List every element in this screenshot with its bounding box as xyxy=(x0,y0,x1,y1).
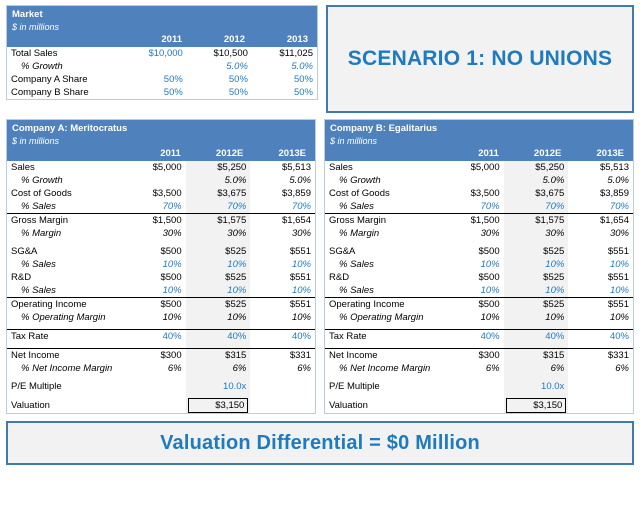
row-value-cell[interactable]: 30% xyxy=(186,227,251,240)
row-value-cell[interactable]: 30% xyxy=(250,227,315,240)
row-value-cell[interactable]: $500 xyxy=(442,298,504,312)
row-value-cell[interactable]: 10% xyxy=(250,258,315,271)
row-label: R&D xyxy=(7,271,124,284)
market-year-row: 2011 2012 2013 xyxy=(12,33,312,47)
row-label: Cost of Goods xyxy=(325,187,442,200)
row-value-cell[interactable]: 50% xyxy=(125,86,187,99)
company-a-row: % Sales70%70%70% xyxy=(7,200,315,214)
company-a-row: % Sales10%10%10% xyxy=(7,284,315,298)
row-label: % Sales xyxy=(7,258,124,271)
row-value-cell[interactable]: 10% xyxy=(186,284,251,298)
company-b-title: Company B: Egalitarius xyxy=(330,123,628,135)
row-label: P/E Multiple xyxy=(325,380,442,393)
row-value-cell[interactable]: $525 xyxy=(504,245,569,258)
scenario-title: SCENARIO 1: NO UNIONS xyxy=(348,47,612,71)
row-value-cell[interactable]: 40% xyxy=(250,330,315,344)
row-label: P/E Multiple xyxy=(7,380,124,393)
row-value-cell[interactable]: 10% xyxy=(124,284,186,298)
row-value-cell[interactable]: 70% xyxy=(504,200,569,214)
row-value-cell[interactable]: $1,500 xyxy=(442,214,504,228)
row-value-cell[interactable]: 6% xyxy=(124,362,186,375)
row-value-cell[interactable]: $500 xyxy=(124,245,186,258)
market-rows: Total Sales$10,000$10,500$11,025% Growth… xyxy=(7,47,317,99)
row-label: % Growth xyxy=(325,174,442,187)
company-a-row: % Sales10%10%10% xyxy=(7,258,315,271)
row-value-cell[interactable]: 30% xyxy=(504,227,569,240)
company-a-row: R&D$500$525$551 xyxy=(7,271,315,284)
market-year-0: 2011 xyxy=(126,33,186,47)
row-label: Tax Rate xyxy=(325,330,442,344)
company-a-rows: Sales$5,000$5,250$5,513% Growth5.0%5.0%C… xyxy=(7,161,315,413)
row-value-cell[interactable]: 70% xyxy=(442,200,504,214)
company-a-header: Company A: Meritocratus $ in millions 20… xyxy=(7,120,315,161)
row-value-cell[interactable]: 10% xyxy=(568,311,633,324)
row-value-cell[interactable]: 5.0% xyxy=(252,60,317,73)
row-label: Sales xyxy=(7,161,124,174)
row-label: Cost of Goods xyxy=(7,187,124,200)
row-value-cell[interactable]: 50% xyxy=(187,86,252,99)
row-value-cell[interactable]: 40% xyxy=(186,330,251,344)
row-label: % Net Income Margin xyxy=(325,362,442,375)
company-a-row: % Net Income Margin6%6%6% xyxy=(7,362,315,375)
row-value-cell[interactable] xyxy=(125,60,187,73)
row-value-cell[interactable]: 5.0% xyxy=(568,174,633,187)
row-value-cell[interactable]: 40% xyxy=(568,330,633,344)
company-a-row: Tax Rate40%40%40% xyxy=(7,330,315,344)
valuation-differential-text: Valuation Differential = $0 Million xyxy=(160,432,480,455)
row-value-cell[interactable]: $5,513 xyxy=(568,161,633,174)
row-label: % Growth xyxy=(7,60,125,73)
row-value-cell[interactable]: $1,575 xyxy=(504,214,569,228)
row-label: Valuation xyxy=(7,398,124,413)
row-label: Valuation xyxy=(325,398,442,413)
row-value-cell[interactable]: 40% xyxy=(504,330,569,344)
row-value-cell[interactable]: 5.0% xyxy=(186,174,251,187)
row-value-cell[interactable]: 70% xyxy=(124,200,186,214)
row-value-cell[interactable]: 10% xyxy=(442,284,504,298)
row-value-cell[interactable]: 10% xyxy=(442,311,504,324)
row-label: Company A Share xyxy=(7,73,125,86)
company-b-row: Sales$5,000$5,250$5,513 xyxy=(325,161,633,174)
row-value-cell[interactable]: 30% xyxy=(568,227,633,240)
spreadsheet-page: Market $ in millions 2011 2012 2013 xyxy=(0,0,640,505)
company-b-year-row: 2011 2012E 2013E xyxy=(330,147,628,161)
company-a-year-2: 2013E xyxy=(247,147,310,161)
company-a-label-col-header xyxy=(12,147,125,161)
row-value-cell[interactable]: 10% xyxy=(504,284,569,298)
row-value-cell[interactable]: $5,250 xyxy=(186,161,251,174)
company-b-row: Operating Income$500$525$551 xyxy=(325,298,633,312)
row-value-cell[interactable]: $551 xyxy=(568,245,633,258)
row-value-cell[interactable]: 10.0x xyxy=(186,380,251,393)
row-value-cell[interactable]: 6% xyxy=(442,362,504,375)
company-b-block: Company B: Egalitarius $ in millions 201… xyxy=(324,119,634,414)
row-value-cell[interactable]: $551 xyxy=(250,245,315,258)
row-value-cell[interactable]: $5,000 xyxy=(124,161,186,174)
row-value-cell[interactable]: $500 xyxy=(124,271,186,284)
company-a-row: % Operating Margin10%10%10% xyxy=(7,311,315,324)
row-value-cell[interactable]: 10% xyxy=(442,258,504,271)
row-label: Operating Income xyxy=(7,298,124,312)
company-a-block: Company A: Meritocratus $ in millions 20… xyxy=(6,119,316,414)
row-value-cell[interactable]: 70% xyxy=(568,200,633,214)
company-a-year-0: 2011 xyxy=(125,147,185,161)
company-b-row: Valuation$3,150 xyxy=(325,398,633,413)
row-value-cell[interactable]: 30% xyxy=(442,227,504,240)
row-label: Total Sales xyxy=(7,47,125,60)
row-value-cell[interactable]: 70% xyxy=(186,200,251,214)
row-value-cell[interactable]: 10% xyxy=(250,311,315,324)
row-label: % Sales xyxy=(7,284,124,298)
company-b-row: % Margin30%30%30% xyxy=(325,227,633,240)
company-a-row: % Margin30%30%30% xyxy=(7,227,315,240)
row-label: Gross Margin xyxy=(7,214,124,228)
company-b-row: % Sales70%70%70% xyxy=(325,200,633,214)
row-value-cell[interactable]: $1,654 xyxy=(250,214,315,228)
row-value-cell[interactable]: $3,859 xyxy=(568,187,633,200)
market-title: Market xyxy=(12,9,312,21)
market-row: Company B Share50%50%50% xyxy=(7,86,317,99)
row-value-cell[interactable]: 6% xyxy=(186,362,251,375)
row-value-cell[interactable]: 10% xyxy=(568,258,633,271)
row-value-cell[interactable]: $1,500 xyxy=(124,214,186,228)
row-value-cell[interactable]: $1,575 xyxy=(186,214,251,228)
company-b-row: % Net Income Margin6%6%6% xyxy=(325,362,633,375)
row-label: SG&A xyxy=(325,245,442,258)
row-value-cell[interactable] xyxy=(250,380,315,393)
row-value-cell[interactable]: $1,654 xyxy=(568,214,633,228)
row-value-cell[interactable]: $3,675 xyxy=(504,187,569,200)
company-b-row: % Operating Margin10%10%10% xyxy=(325,311,633,324)
row-value-cell[interactable]: 6% xyxy=(250,362,315,375)
row-value-cell[interactable]: 5.0% xyxy=(250,174,315,187)
market-body-table: Total Sales$10,000$10,500$11,025% Growth… xyxy=(7,47,317,99)
row-value-cell[interactable]: $551 xyxy=(250,271,315,284)
company-b-header: Company B: Egalitarius $ in millions 201… xyxy=(325,120,633,161)
row-value-cell[interactable] xyxy=(250,398,315,413)
row-value-cell[interactable]: $525 xyxy=(186,271,251,284)
row-value-cell[interactable]: $3,859 xyxy=(250,187,315,200)
row-value-cell[interactable]: 10% xyxy=(504,311,569,324)
company-b-row: Tax Rate40%40%40% xyxy=(325,330,633,344)
row-label: Tax Rate xyxy=(7,330,124,344)
company-b-row: Cost of Goods$3,500$3,675$3,859 xyxy=(325,187,633,200)
row-value-cell[interactable]: 10% xyxy=(568,284,633,298)
row-value-cell[interactable]: $3,150 xyxy=(186,398,251,413)
row-value-cell[interactable]: $5,250 xyxy=(504,161,569,174)
company-b-row: % Sales10%10%10% xyxy=(325,284,633,298)
row-value-cell[interactable]: $3,150 xyxy=(504,398,569,413)
row-value-cell[interactable]: 6% xyxy=(568,362,633,375)
row-value-cell[interactable]: 6% xyxy=(504,362,569,375)
company-b-row: SG&A$500$525$551 xyxy=(325,245,633,258)
row-value-cell[interactable]: 50% xyxy=(252,73,317,86)
market-label-col-header xyxy=(12,33,126,47)
row-label: % Sales xyxy=(325,258,442,271)
company-a-year-row: 2011 2012E 2013E xyxy=(12,147,310,161)
company-b-subtitle: $ in millions xyxy=(330,135,628,147)
market-table-block: Market $ in millions 2011 2012 2013 xyxy=(6,5,318,100)
row-value-cell[interactable]: $525 xyxy=(504,298,569,312)
row-value-cell[interactable]: $3,675 xyxy=(186,187,251,200)
company-a-body-table: Sales$5,000$5,250$5,513% Growth5.0%5.0%C… xyxy=(7,161,315,413)
valuation-differential-banner: Valuation Differential = $0 Million xyxy=(6,421,634,465)
row-label: SG&A xyxy=(7,245,124,258)
company-tables-row: Company A: Meritocratus $ in millions 20… xyxy=(6,119,634,414)
valuation-output-cell[interactable]: $3,150 xyxy=(506,398,567,413)
row-value-cell[interactable]: 40% xyxy=(442,330,504,344)
row-value-cell[interactable]: $5,000 xyxy=(442,161,504,174)
company-b-year-2: 2013E xyxy=(565,147,628,161)
company-a-row: Sales$5,000$5,250$5,513 xyxy=(7,161,315,174)
company-a-subtitle: $ in millions xyxy=(12,135,310,147)
row-value-cell[interactable]: 10% xyxy=(186,258,251,271)
company-a-row: Valuation$3,150 xyxy=(7,398,315,413)
row-value-cell[interactable]: 10% xyxy=(124,258,186,271)
row-value-cell[interactable]: $500 xyxy=(124,298,186,312)
row-value-cell[interactable] xyxy=(442,380,504,393)
row-label: Gross Margin xyxy=(325,214,442,228)
company-b-row: Net Income$300$315$331 xyxy=(325,349,633,363)
row-value-cell[interactable] xyxy=(442,398,504,413)
row-label: Operating Income xyxy=(325,298,442,312)
row-label: % Margin xyxy=(7,227,124,240)
row-value-cell[interactable]: $525 xyxy=(186,298,251,312)
row-value-cell[interactable]: 70% xyxy=(250,200,315,214)
row-value-cell[interactable]: 50% xyxy=(187,73,252,86)
company-b-year-0: 2011 xyxy=(443,147,503,161)
row-value-cell[interactable]: 10.0x xyxy=(504,380,569,393)
market-header: Market $ in millions 2011 2012 2013 xyxy=(7,6,317,47)
row-value-cell[interactable]: $551 xyxy=(568,271,633,284)
company-a-row: Cost of Goods$3,500$3,675$3,859 xyxy=(7,187,315,200)
row-value-cell[interactable]: $525 xyxy=(186,245,251,258)
company-b-year-1: 2012E xyxy=(503,147,566,161)
row-value-cell[interactable] xyxy=(568,398,633,413)
row-value-cell[interactable]: $300 xyxy=(442,349,504,363)
row-label: Company B Share xyxy=(7,86,125,99)
row-value-cell[interactable]: $3,500 xyxy=(124,187,186,200)
company-b-year-header-table: 2011 2012E 2013E xyxy=(330,147,628,161)
company-b-label-col-header xyxy=(330,147,443,161)
row-label: % Sales xyxy=(325,200,442,214)
company-b-body-table: Sales$5,000$5,250$5,513% Growth5.0%5.0%C… xyxy=(325,161,633,413)
row-label: Net Income xyxy=(325,349,442,363)
row-label: % Sales xyxy=(325,284,442,298)
company-b-row: % Sales10%10%10% xyxy=(325,258,633,271)
row-value-cell[interactable]: 40% xyxy=(124,330,186,344)
row-value-cell[interactable]: $331 xyxy=(568,349,633,363)
row-value-cell[interactable]: $500 xyxy=(442,271,504,284)
market-subtitle: $ in millions xyxy=(12,21,312,33)
row-value-cell[interactable]: $10,000 xyxy=(125,47,187,60)
company-a-row: P/E Multiple10.0x xyxy=(7,380,315,393)
market-row: % Growth5.0%5.0% xyxy=(7,60,317,73)
row-value-cell[interactable]: $3,500 xyxy=(442,187,504,200)
row-label: % Net Income Margin xyxy=(7,362,124,375)
row-value-cell[interactable] xyxy=(124,398,186,413)
row-value-cell[interactable]: $315 xyxy=(186,349,251,363)
company-a-row: % Growth5.0%5.0% xyxy=(7,174,315,187)
row-label: R&D xyxy=(325,271,442,284)
row-label: Net Income xyxy=(7,349,124,363)
row-value-cell[interactable]: 5.0% xyxy=(187,60,252,73)
row-value-cell[interactable]: $525 xyxy=(504,271,569,284)
row-value-cell[interactable]: 10% xyxy=(250,284,315,298)
market-year-1: 2012 xyxy=(186,33,249,47)
market-row: Company A Share50%50%50% xyxy=(7,73,317,86)
market-year-header-table: 2011 2012 2013 xyxy=(12,33,312,47)
row-label: % Growth xyxy=(7,174,124,187)
row-label: % Sales xyxy=(7,200,124,214)
company-b-row: % Growth5.0%5.0% xyxy=(325,174,633,187)
valuation-output-cell[interactable]: $3,150 xyxy=(188,398,249,413)
row-label: % Margin xyxy=(325,227,442,240)
row-value-cell[interactable] xyxy=(568,380,633,393)
company-a-year-1: 2012E xyxy=(185,147,248,161)
row-value-cell[interactable]: $500 xyxy=(442,245,504,258)
row-value-cell[interactable]: 5.0% xyxy=(504,174,569,187)
row-value-cell[interactable]: 10% xyxy=(124,311,186,324)
row-value-cell[interactable]: $331 xyxy=(250,349,315,363)
company-b-row: Gross Margin$1,500$1,575$1,654 xyxy=(325,214,633,228)
row-value-cell[interactable]: 10% xyxy=(504,258,569,271)
row-label: % Operating Margin xyxy=(7,311,124,324)
row-label: % Operating Margin xyxy=(325,311,442,324)
row-value-cell[interactable]: 10% xyxy=(186,311,251,324)
company-a-row: Operating Income$500$525$551 xyxy=(7,298,315,312)
row-value-cell[interactable]: 50% xyxy=(252,86,317,99)
row-value-cell[interactable]: $5,513 xyxy=(250,161,315,174)
market-year-2: 2013 xyxy=(249,33,312,47)
company-b-row: P/E Multiple10.0x xyxy=(325,380,633,393)
company-a-row: Net Income$300$315$331 xyxy=(7,349,315,363)
company-b-row: R&D$500$525$551 xyxy=(325,271,633,284)
scenario-banner: SCENARIO 1: NO UNIONS xyxy=(326,5,634,113)
company-a-row: Gross Margin$1,500$1,575$1,654 xyxy=(7,214,315,228)
top-row: Market $ in millions 2011 2012 2013 xyxy=(6,5,634,113)
row-value-cell[interactable]: $11,025 xyxy=(252,47,317,60)
row-value-cell[interactable]: 30% xyxy=(124,227,186,240)
row-value-cell[interactable]: $315 xyxy=(504,349,569,363)
company-a-title: Company A: Meritocratus xyxy=(12,123,310,135)
row-value-cell[interactable]: 50% xyxy=(125,73,187,86)
row-value-cell[interactable] xyxy=(124,380,186,393)
company-a-year-header-table: 2011 2012E 2013E xyxy=(12,147,310,161)
row-value-cell[interactable]: $551 xyxy=(250,298,315,312)
row-label: Sales xyxy=(325,161,442,174)
row-value-cell[interactable]: $551 xyxy=(568,298,633,312)
market-row: Total Sales$10,000$10,500$11,025 xyxy=(7,47,317,60)
row-value-cell[interactable] xyxy=(124,174,186,187)
row-value-cell[interactable]: $300 xyxy=(124,349,186,363)
company-b-rows: Sales$5,000$5,250$5,513% Growth5.0%5.0%C… xyxy=(325,161,633,413)
row-value-cell[interactable] xyxy=(442,174,504,187)
company-a-row: SG&A$500$525$551 xyxy=(7,245,315,258)
scenario-wrap: SCENARIO 1: NO UNIONS xyxy=(326,5,634,113)
row-value-cell[interactable]: $10,500 xyxy=(187,47,252,60)
